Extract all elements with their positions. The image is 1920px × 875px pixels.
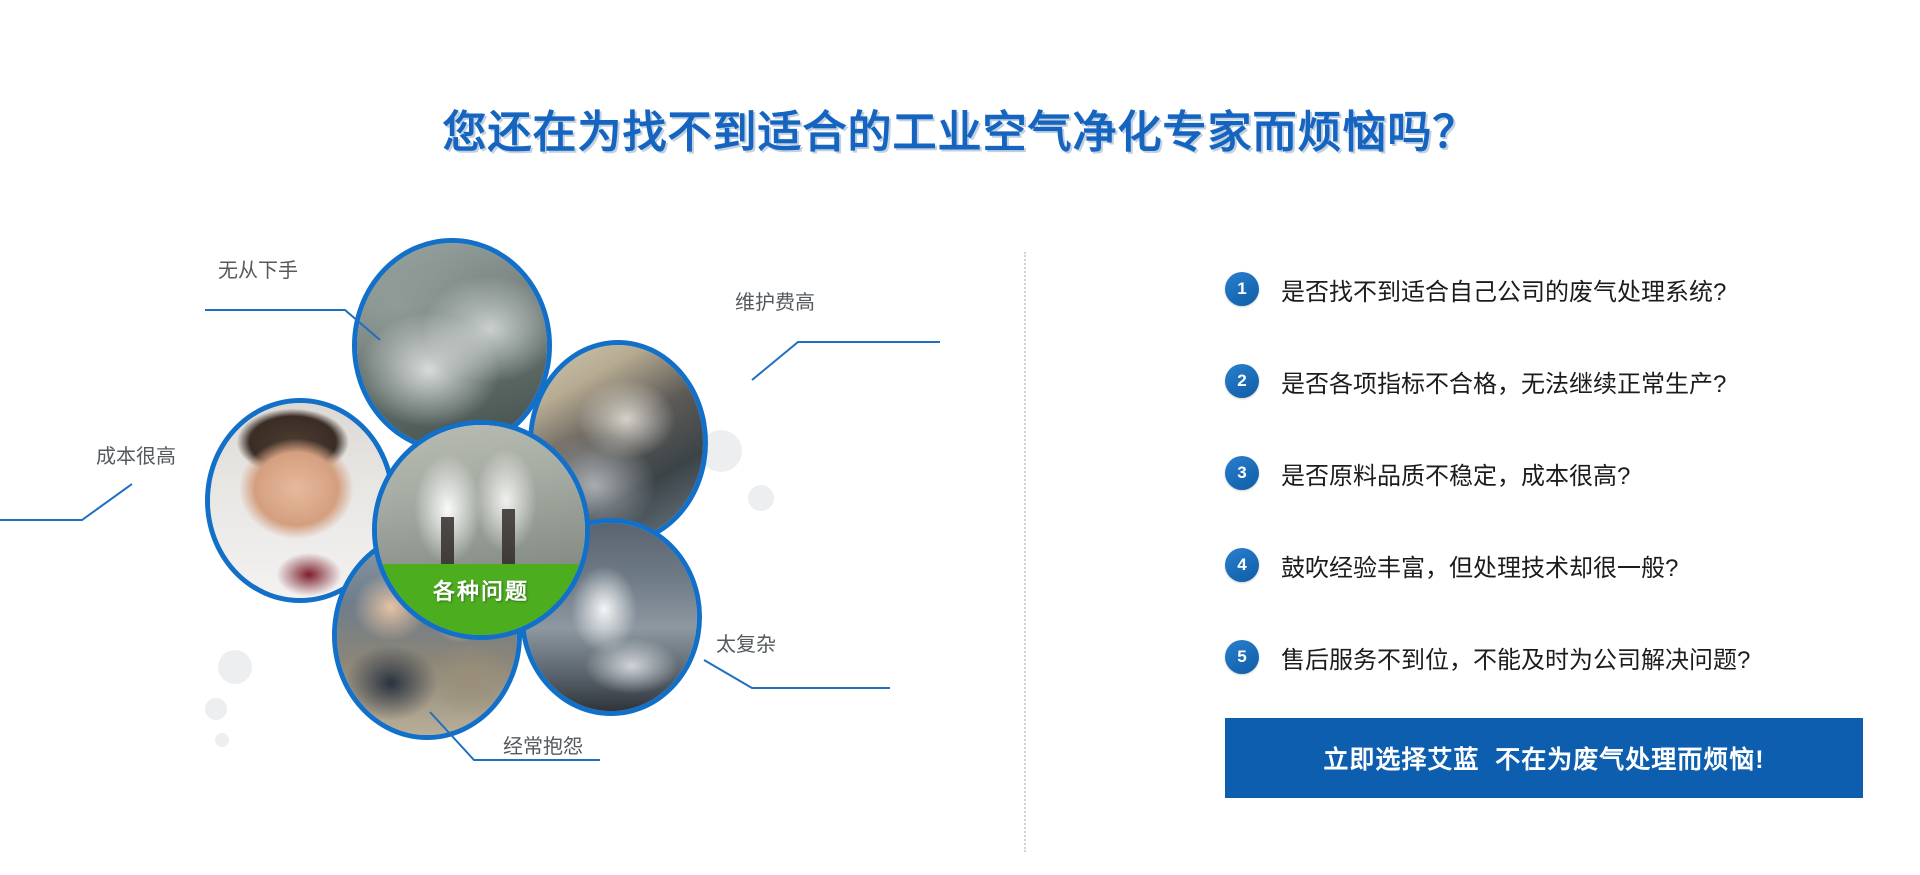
question-item: 5 售后服务不到位，不能及时为公司解决问题? — [1225, 626, 1885, 688]
decorative-dot — [748, 485, 774, 511]
question-item: 1 是否找不到适合自己公司的废气处理系统? — [1225, 258, 1885, 320]
callout-leader-line — [0, 468, 230, 548]
center-label-text: 各种问题 — [433, 574, 529, 606]
bubble-center-problems: 各种问题 — [372, 420, 590, 640]
callout-label: 无从下手 — [218, 254, 298, 283]
question-text: 售后服务不到位，不能及时为公司解决问题? — [1281, 640, 1750, 675]
question-text: 是否找不到适合自己公司的废气处理系统? — [1281, 272, 1726, 307]
question-number-badge: 3 — [1225, 456, 1259, 490]
callout-label: 太复杂 — [716, 628, 776, 657]
question-text: 是否各项指标不合格，无法继续正常生产? — [1281, 364, 1726, 399]
question-number-badge: 2 — [1225, 364, 1259, 398]
question-text: 鼓吹经验丰富，但处理技术却很一般? — [1281, 548, 1678, 583]
callout-leader-line — [205, 282, 465, 362]
page-title: 您还在为找不到适合的工业空气净化专家而烦恼吗？ — [0, 96, 1920, 160]
decorative-dot — [218, 650, 252, 684]
question-item: 4 鼓吹经验丰富，但处理技术却很一般? — [1225, 534, 1885, 596]
decorative-dot — [215, 733, 229, 747]
callout-leader-line — [660, 656, 890, 736]
promo-banner: 您还在为找不到适合的工业空气净化专家而烦恼吗？ — [0, 0, 1920, 875]
question-item: 3 是否原料品质不稳定，成本很高? — [1225, 442, 1885, 504]
callout-label: 维护费高 — [735, 286, 815, 315]
cta-button[interactable]: 立即选择艾蓝 不在为废气处理而烦恼! — [1225, 718, 1863, 798]
questions-panel: 1 是否找不到适合自己公司的废气处理系统? 2 是否各项指标不合格，无法继续正常… — [1225, 258, 1885, 798]
callout-label: 成本很高 — [96, 440, 176, 469]
question-number-badge: 1 — [1225, 272, 1259, 306]
callout-leader-line — [420, 708, 650, 788]
question-item: 2 是否各项指标不合格，无法继续正常生产? — [1225, 350, 1885, 412]
question-number-badge: 5 — [1225, 640, 1259, 674]
question-text: 是否原料品质不稳定，成本很高? — [1281, 456, 1630, 491]
section-divider — [1024, 252, 1026, 852]
cta-button-label: 立即选择艾蓝 不在为废气处理而烦恼! — [1323, 740, 1764, 776]
callout-leader-line — [690, 314, 940, 394]
decorative-dot — [205, 698, 227, 720]
center-label-band: 各种问题 — [377, 564, 585, 635]
problem-infographic: 各种问题 无从下手 维护费高 成本很高 太复杂 — [0, 230, 1010, 860]
question-number-badge: 4 — [1225, 548, 1259, 582]
